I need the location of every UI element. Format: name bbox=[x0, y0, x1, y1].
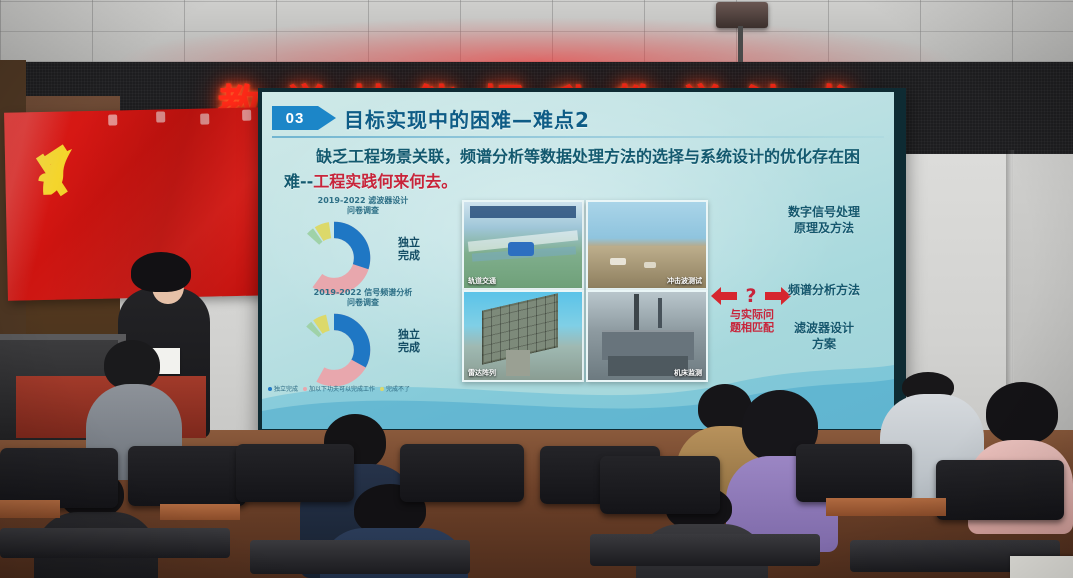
seat[interactable] bbox=[600, 456, 720, 514]
right-label-filter-line1: 滤波器设计 bbox=[762, 320, 886, 336]
chart-1-caption-line2: 问卷调查 bbox=[288, 206, 438, 216]
flag-pin bbox=[108, 114, 117, 125]
presentation-slide: 03 目标实现中的困难—难点2 缺乏工程场景关联，频谱分析等数据处理方法的选择与… bbox=[262, 92, 894, 429]
chart-2-donut-graphic bbox=[288, 311, 380, 389]
photo-machine-monitoring: 机床监测 bbox=[586, 290, 708, 382]
donut-chart-1: 2019-2022 滤波器设计 问卷调查 独立 完成 bbox=[288, 196, 438, 302]
chart-2-side-label-line1: 独立 bbox=[398, 328, 420, 341]
photo-shockwave-test: 冲击波测试 bbox=[586, 200, 708, 290]
hammer-and-sickle-icon bbox=[27, 133, 107, 213]
legend-item-0: 独立完成 bbox=[268, 384, 298, 393]
photo-caption-1: 冲击波测试 bbox=[667, 276, 702, 286]
body-highlight-text: 工程实践何来何去。 bbox=[313, 172, 457, 191]
slide-title: 目标实现中的困难—难点2 bbox=[344, 104, 590, 133]
seat[interactable] bbox=[936, 460, 1064, 520]
right-label-dsp-line2: 原理及方法 bbox=[762, 220, 886, 236]
right-label-dsp: 数字信号处理 原理及方法 bbox=[762, 204, 886, 236]
right-label-filter: 滤波器设计 方案 bbox=[762, 320, 886, 352]
title-divider bbox=[272, 136, 884, 138]
chart-1-caption-line1: 2019-2022 滤波器设计 bbox=[288, 196, 438, 206]
seat-back-rail[interactable] bbox=[250, 540, 470, 574]
notebook-page bbox=[1010, 556, 1073, 578]
slide-section-badge: 03 bbox=[272, 106, 318, 130]
question-mark: ? bbox=[745, 285, 756, 307]
chart-1-side-label: 独立 完成 bbox=[398, 236, 420, 262]
photo-caption-2: 雷达阵列 bbox=[468, 368, 496, 378]
chart-legend: 独立完成 加以下功夫可以完成工作 完成不了 bbox=[268, 384, 464, 393]
right-label-filter-line2: 方案 bbox=[762, 336, 886, 352]
chart-1-side-label-line2: 完成 bbox=[398, 249, 420, 262]
flag-pin bbox=[156, 111, 165, 122]
seat[interactable] bbox=[796, 444, 912, 502]
seat[interactable] bbox=[128, 446, 246, 506]
photo-caption-0: 轨道交通 bbox=[468, 276, 496, 286]
desk-surface bbox=[826, 498, 946, 516]
flag-pin bbox=[242, 110, 251, 121]
lecture-hall-photo: 教学技能提升教学沙龙 03 目标实现中的困难—难点2 缺乏工程场 bbox=[0, 0, 1073, 578]
chart-1-donut-graphic bbox=[288, 219, 380, 297]
chart-2-caption-line1: 2019-2022 信号频谱分析 bbox=[288, 288, 438, 298]
photo-radar-array: 雷达阵列 bbox=[462, 290, 584, 382]
slide-body-text: 缺乏工程场景关联，频谱分析等数据处理方法的选择与系统设计的优化存在困难--工程实… bbox=[284, 144, 876, 194]
flag-pin bbox=[200, 113, 209, 124]
arrow-left-icon bbox=[710, 286, 738, 306]
seat-back-rail[interactable] bbox=[0, 528, 230, 558]
seat[interactable] bbox=[0, 448, 118, 508]
chart-2-side-label: 独立 完成 bbox=[398, 328, 420, 354]
desk-surface bbox=[0, 500, 60, 518]
slide-badge-tail bbox=[318, 106, 336, 130]
projection-screen-frame: 03 目标实现中的困难—难点2 缺乏工程场景关联，频谱分析等数据处理方法的选择与… bbox=[258, 88, 906, 441]
right-label-spectrum: 频谱分析方法 bbox=[762, 282, 886, 298]
projector bbox=[716, 2, 768, 28]
chart-2-caption-line2: 问卷调查 bbox=[288, 298, 438, 308]
right-label-dsp-line1: 数字信号处理 bbox=[762, 204, 886, 220]
seat[interactable] bbox=[236, 444, 354, 502]
ceiling-red-glow bbox=[0, 0, 1073, 62]
seat-back-rail[interactable] bbox=[590, 534, 820, 566]
chart-1-side-label-line1: 独立 bbox=[398, 236, 420, 249]
presenter-hair bbox=[131, 252, 191, 292]
desk-surface bbox=[160, 504, 240, 520]
photo-rail-transit: 轨道交通 bbox=[462, 200, 584, 290]
chart-2-side-label-line2: 完成 bbox=[398, 341, 420, 354]
legend-item-1: 加以下功夫可以完成工作 bbox=[303, 384, 375, 393]
seat[interactable] bbox=[400, 444, 524, 502]
photo-caption-3: 机床监测 bbox=[674, 368, 702, 378]
donut-chart-2: 2019-2022 信号频谱分析 问卷调查 独立 完成 bbox=[288, 288, 438, 394]
legend-item-2: 完成不了 bbox=[380, 384, 410, 393]
